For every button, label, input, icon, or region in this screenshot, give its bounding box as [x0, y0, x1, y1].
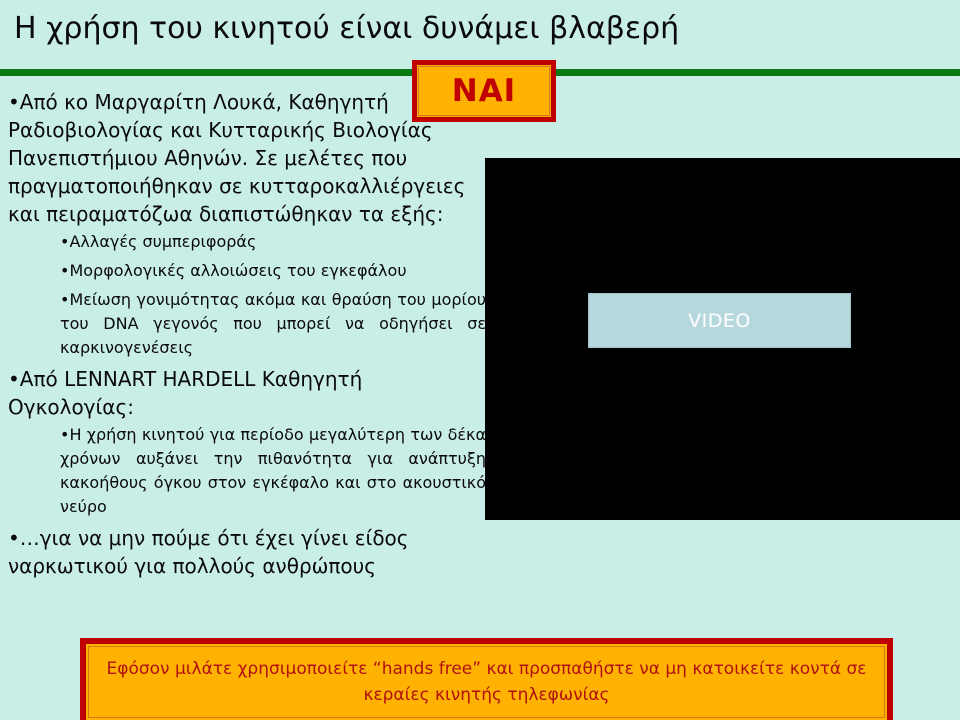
- bullet-glyph: •: [8, 90, 20, 114]
- slide-canvas: Η χρήση του κινητού είναι δυνάμει βλαβερ…: [0, 0, 960, 720]
- bullet-text: Αλλαγές συμπεριφοράς: [69, 232, 256, 251]
- video-placeholder-button[interactable]: VIDEO: [588, 293, 851, 348]
- bullet-text: Μορφολογικές αλλοιώσεις του εγκεφάλου: [69, 261, 406, 280]
- bullet-glyph: •: [8, 526, 20, 550]
- nai-badge-label: ΝΑΙ: [452, 73, 516, 109]
- advice-banner: Εφόσον μιλάτε χρησιμοποιείτε “hands free…: [80, 638, 893, 720]
- bullet-text: Από LENNART HARDELL Καθηγητή Ογκολογίας:: [8, 367, 362, 419]
- bullet-item-level2: •Μορφολογικές αλλοιώσεις του εγκεφάλου: [8, 259, 486, 283]
- bullet-text: Από κο Μαργαρίτη Λουκά, Καθηγητή Ραδιοβι…: [8, 90, 465, 226]
- bullet-glyph: •: [8, 367, 20, 391]
- video-placeholder-label: VIDEO: [688, 310, 751, 332]
- bullet-text: Η χρήση κινητού για περίοδο μεγαλύτερη τ…: [60, 425, 486, 516]
- body-content: •Από κο Μαργαρίτη Λουκά, Καθηγητή Ραδιοβ…: [8, 88, 486, 582]
- bullet-item-level1: •…για να μην πούμε ότι έχει γίνει είδος …: [8, 524, 486, 580]
- bullet-text: Μείωση γονιμότητας ακόμα και θραύση του …: [60, 290, 486, 357]
- nai-badge: ΝΑΙ: [412, 60, 556, 122]
- bullet-item-level2: •Η χρήση κινητού για περίοδο μεγαλύτερη …: [8, 423, 486, 519]
- bullet-item-level2: •Αλλαγές συμπεριφοράς: [8, 230, 486, 254]
- bullet-item-level1: •Από LENNART HARDELL Καθηγητή Ογκολογίας…: [8, 365, 486, 421]
- bullet-text: …για να μην πούμε ότι έχει γίνει είδος ν…: [8, 526, 409, 578]
- bullet-item-level2: •Μείωση γονιμότητας ακόμα και θραύση του…: [8, 288, 486, 360]
- video-panel[interactable]: VIDEO: [485, 158, 960, 520]
- page-title: Η χρήση του κινητού είναι δυνάμει βλαβερ…: [14, 8, 944, 50]
- advice-banner-text: Εφόσον μιλάτε χρησιμοποιείτε “hands free…: [86, 656, 887, 708]
